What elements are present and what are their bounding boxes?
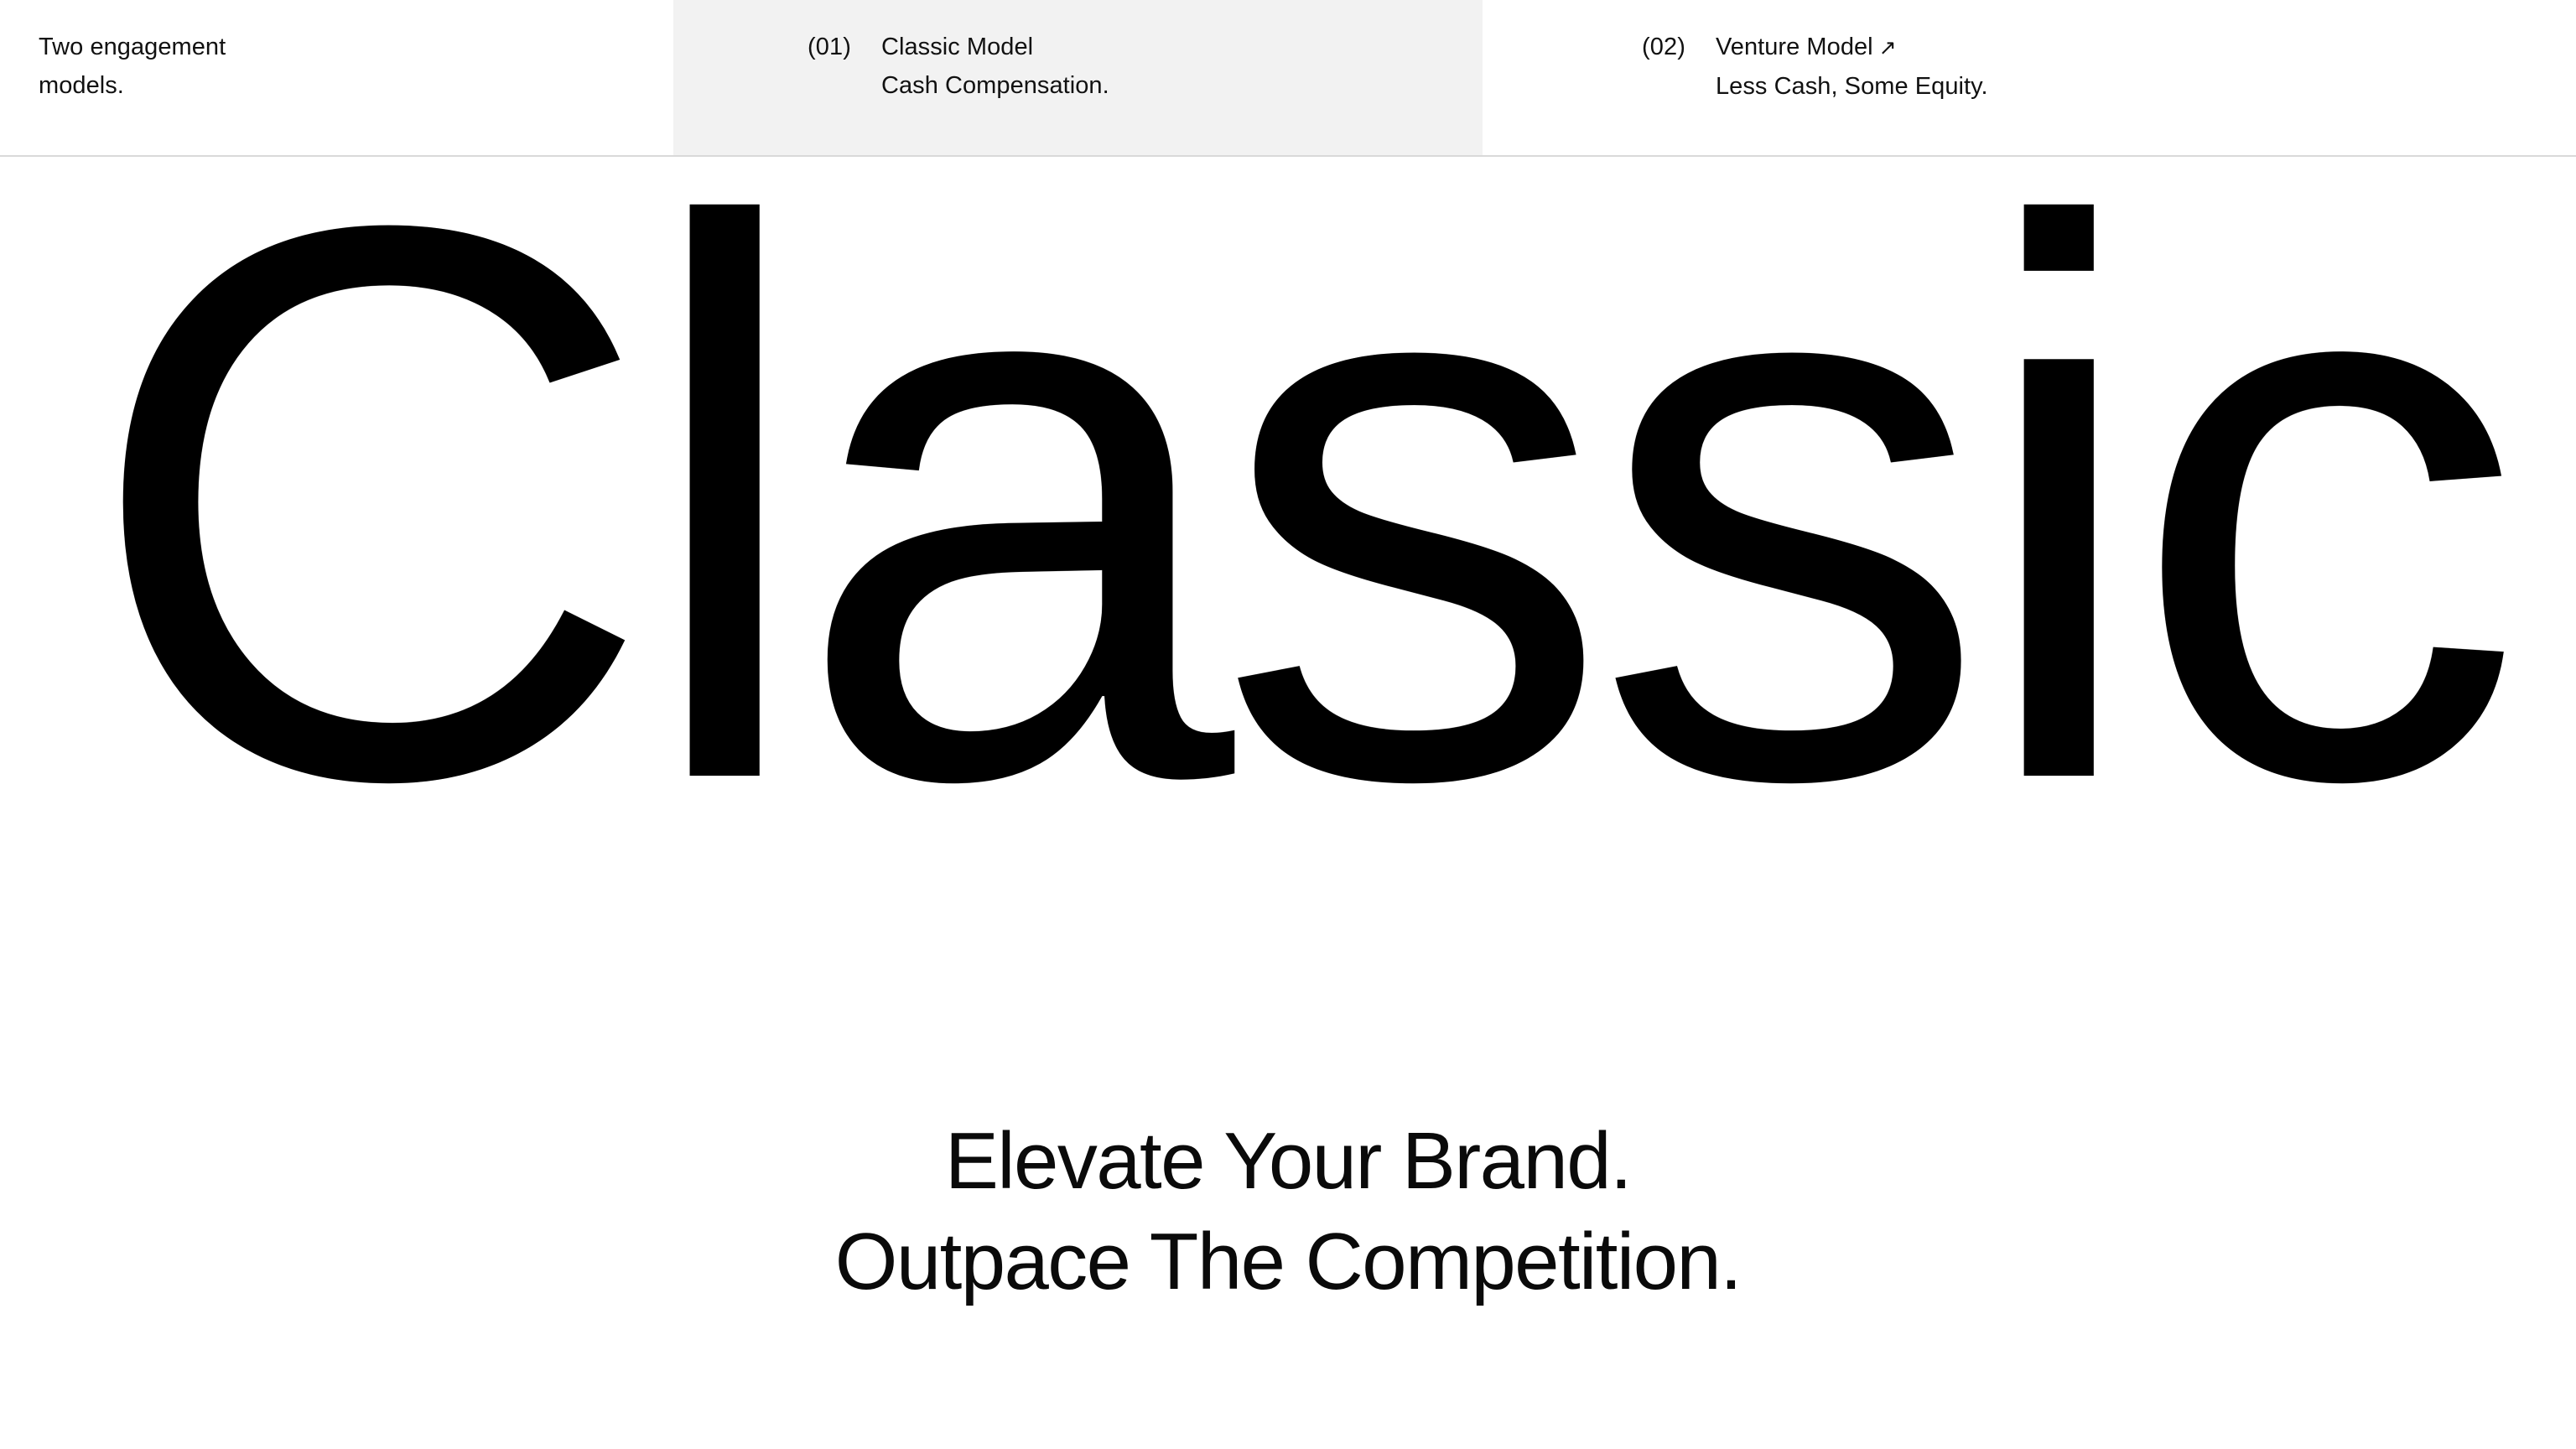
- model-venture-title: Venture Model: [1716, 34, 1873, 60]
- hero-subheading: Elevate Your Brand. Outpace The Competit…: [0, 1111, 2576, 1312]
- model-index-01: (01): [808, 28, 881, 66]
- subheading-line-1: Elevate Your Brand.: [0, 1111, 2576, 1212]
- model-venture-title-line: Venture Model↗: [1716, 28, 1988, 67]
- hero-headline: Classic: [70, 204, 2506, 802]
- page-root: Two engagement models. (01) Classic Mode…: [0, 0, 2576, 1449]
- model-index-02: (02): [1642, 28, 1716, 66]
- hero-section: Classic: [0, 126, 2576, 880]
- header-intro-line-1: Two engagement: [39, 28, 226, 66]
- arrow-up-right-icon[interactable]: ↗: [1879, 29, 1897, 67]
- model-classic-title: Classic Model: [881, 28, 1109, 66]
- subheading-line-2: Outpace The Competition.: [0, 1212, 2576, 1312]
